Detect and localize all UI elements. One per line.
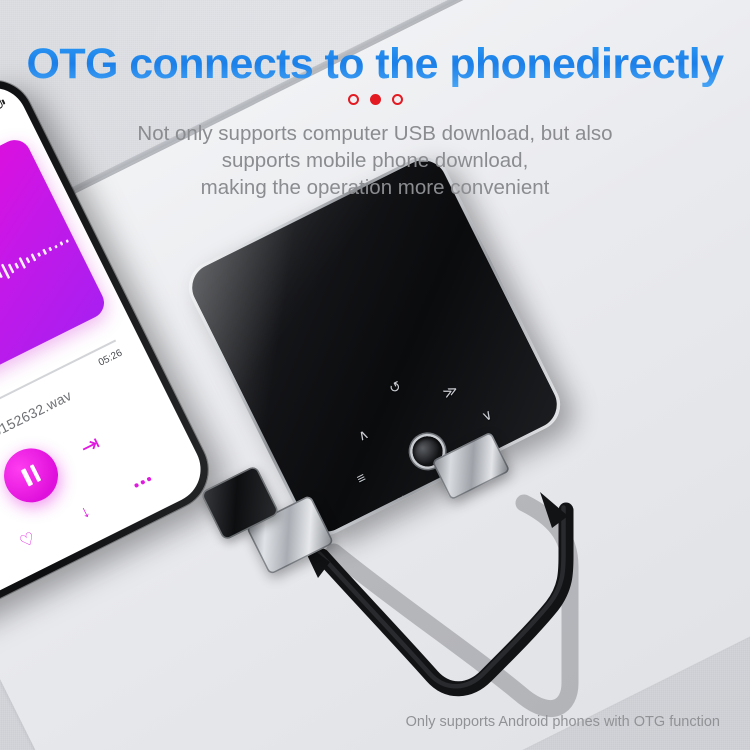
forward-icon[interactable]: ⇥	[77, 432, 103, 460]
dot-hollow-left	[348, 94, 359, 105]
dot-hollow-right	[392, 94, 403, 105]
mp3-menu-icon[interactable]: ≡	[354, 470, 368, 486]
subtitle-line-3: making the operation more convenient	[0, 174, 750, 201]
dot-filled-center	[370, 94, 381, 105]
footer-note: Only supports Android phones with OTG fu…	[406, 714, 720, 730]
heart-icon[interactable]: ♡	[17, 529, 38, 551]
product-banner: ←	[0, 0, 750, 750]
subtitle: Not only supports computer USB download,…	[0, 120, 750, 201]
mp3-next-track-icon[interactable]: ≫	[441, 381, 460, 400]
subtitle-line-1: Not only supports computer USB download,…	[0, 120, 750, 147]
mp3-volume-down-icon[interactable]: ∨	[479, 407, 494, 424]
mp3-volume-up-icon[interactable]: ∧	[355, 426, 370, 443]
page-title: OTG connects to the phonedirectly	[0, 40, 750, 89]
pause-icon	[21, 464, 42, 486]
mp3-back-icon[interactable]: ↺	[387, 378, 404, 396]
download-icon[interactable]: ↓	[77, 502, 92, 521]
dot-separator	[0, 94, 750, 105]
pause-button[interactable]	[0, 439, 67, 511]
more-options-icon[interactable]	[134, 477, 151, 488]
subtitle-line-2: supports mobile phone download,	[0, 147, 750, 174]
